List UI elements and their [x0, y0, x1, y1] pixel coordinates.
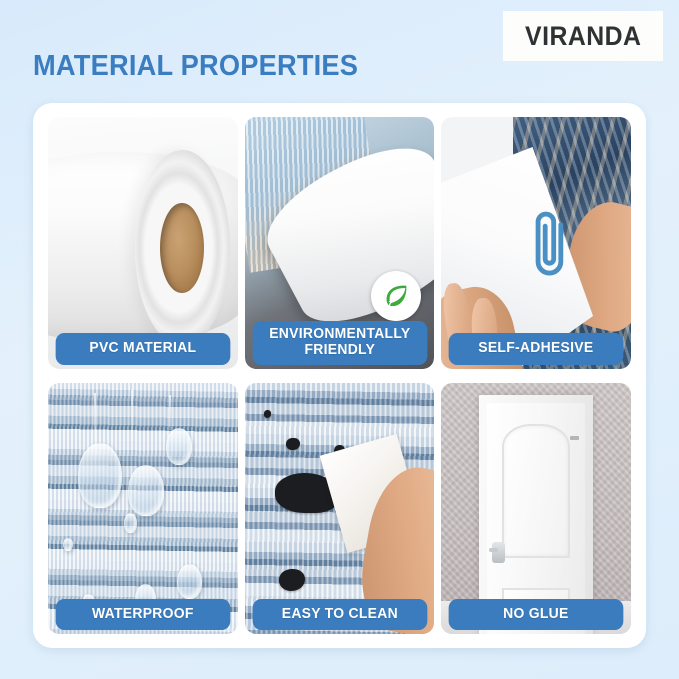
- easy-to-clean-image: [245, 383, 435, 635]
- waterproof-image: [48, 383, 238, 635]
- header: MATERIAL PROPERTIES VIRANDA: [0, 0, 679, 103]
- feature-label-easy-to-clean: EASY TO CLEAN: [252, 599, 426, 630]
- feature-cell-environmentally-friendly[interactable]: ENVIRONMENTALLY FRIENDLY: [245, 117, 435, 369]
- feature-cell-no-glue[interactable]: NO GLUE: [441, 383, 631, 635]
- no-glue-door-image: [441, 383, 631, 635]
- paperclip-icon: [521, 203, 578, 283]
- brand-name: VIRANDA: [525, 21, 641, 52]
- feature-label-pvc-material: PVC MATERIAL: [56, 333, 230, 364]
- feature-cell-pvc-material[interactable]: PVC MATERIAL: [48, 117, 238, 369]
- self-adhesive-image: [441, 117, 631, 369]
- leaf-icon: [371, 271, 421, 321]
- feature-cell-easy-to-clean[interactable]: EASY TO CLEAN: [245, 383, 435, 635]
- pvc-roll-image: [48, 117, 238, 369]
- feature-grid: PVC MATERIAL: [48, 117, 631, 634]
- feature-label-waterproof: WATERPROOF: [56, 599, 230, 630]
- feature-label-no-glue: NO GLUE: [449, 599, 623, 630]
- brand-logo: VIRANDA: [503, 11, 663, 61]
- feature-label-environmentally-friendly: ENVIRONMENTALLY FRIENDLY: [252, 321, 426, 364]
- feature-cell-self-adhesive[interactable]: SELF-ADHESIVE: [441, 117, 631, 369]
- feature-label-self-adhesive: SELF-ADHESIVE: [449, 333, 623, 364]
- door-handle-icon: [492, 542, 505, 563]
- cardboard-core: [160, 203, 204, 294]
- feature-cell-waterproof[interactable]: WATERPROOF: [48, 383, 238, 635]
- page-title: MATERIAL PROPERTIES: [33, 50, 358, 83]
- feature-card: PVC MATERIAL: [33, 103, 646, 648]
